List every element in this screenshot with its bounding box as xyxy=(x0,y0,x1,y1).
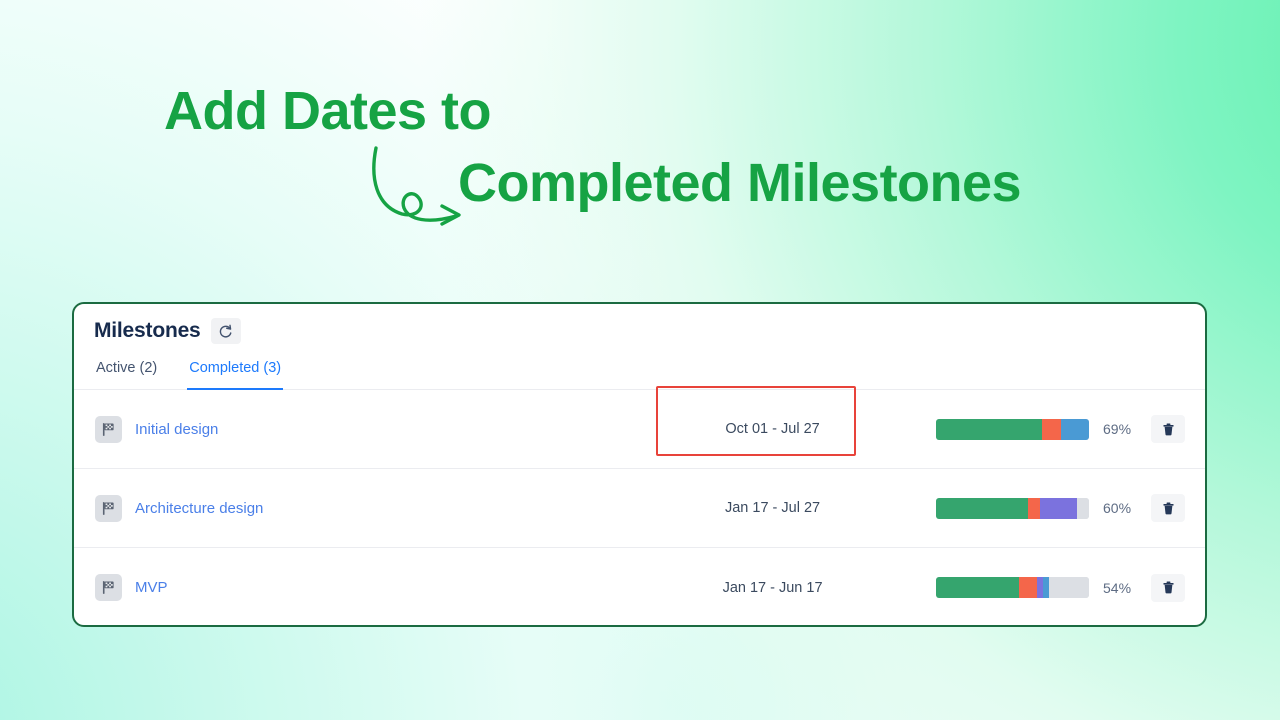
checkered-flag-icon xyxy=(95,574,122,601)
refresh-button[interactable] xyxy=(211,318,241,344)
progress-bar xyxy=(936,419,1089,440)
milestone-dates[interactable]: Jan 17 - Jul 27 xyxy=(609,498,936,518)
tab-completed[interactable]: Completed (3) xyxy=(187,360,283,390)
card-header: Milestones xyxy=(74,304,1205,344)
progress-bar-segment xyxy=(1028,498,1040,519)
milestone-dates[interactable]: Jan 17 - Jun 17 xyxy=(609,578,936,598)
progress-percent-label: 69% xyxy=(1103,421,1137,437)
milestone-progress-cell: 60% xyxy=(936,494,1205,522)
progress-bar-segment xyxy=(1077,498,1089,519)
milestone-name-link[interactable]: Architecture design xyxy=(135,500,263,517)
milestone-name-link[interactable]: Initial design xyxy=(135,421,218,438)
milestone-dates-text: Jan 17 - Jul 27 xyxy=(721,498,824,518)
milestone-name-cell: Architecture design xyxy=(74,495,609,522)
progress-bar xyxy=(936,498,1089,519)
progress-bar-segment xyxy=(1049,577,1089,598)
milestone-progress-cell: 54% xyxy=(936,574,1205,602)
milestone-progress-cell: 69% xyxy=(936,415,1205,443)
progress-bar-segment xyxy=(936,577,1019,598)
delete-milestone-button[interactable] xyxy=(1151,494,1185,522)
delete-milestone-button[interactable] xyxy=(1151,415,1185,443)
page-title: Milestones xyxy=(94,319,201,343)
table-row: Architecture designJan 17 - Jul 2760% xyxy=(74,469,1205,548)
trash-icon xyxy=(1161,422,1176,437)
milestone-dates-text: Jan 17 - Jun 17 xyxy=(719,578,827,598)
progress-percent-label: 60% xyxy=(1103,500,1137,516)
trash-icon xyxy=(1161,580,1176,595)
progress-bar xyxy=(936,577,1089,598)
progress-bar-segment xyxy=(936,498,1028,519)
milestone-dates-text: Oct 01 - Jul 27 xyxy=(721,419,823,439)
milestone-name-cell: MVP xyxy=(74,574,609,601)
refresh-icon xyxy=(218,324,233,339)
progress-percent-label: 54% xyxy=(1103,580,1137,596)
checkered-flag-icon xyxy=(95,416,122,443)
delete-milestone-button[interactable] xyxy=(1151,574,1185,602)
progress-bar-segment xyxy=(1040,498,1077,519)
progress-bar-segment xyxy=(1042,419,1062,440)
milestones-card: Milestones Active (2) Completed (3) Init… xyxy=(72,302,1207,627)
tab-active[interactable]: Active (2) xyxy=(94,360,159,390)
table-row: MVPJan 17 - Jun 1754% xyxy=(74,548,1205,627)
checkered-flag-icon xyxy=(95,495,122,522)
progress-bar-segment xyxy=(1019,577,1037,598)
tab-bar: Active (2) Completed (3) xyxy=(74,350,1205,390)
milestone-name-cell: Initial design xyxy=(74,416,609,443)
trash-icon xyxy=(1161,501,1176,516)
progress-bar-segment xyxy=(1061,419,1089,440)
table-row: Initial designOct 01 - Jul 2769% xyxy=(74,390,1205,469)
milestone-name-link[interactable]: MVP xyxy=(135,579,168,596)
progress-bar-segment xyxy=(936,419,1042,440)
milestones-list: Initial designOct 01 - Jul 2769%Architec… xyxy=(74,390,1205,627)
milestone-dates-highlighted[interactable]: Oct 01 - Jul 27 xyxy=(609,419,936,439)
